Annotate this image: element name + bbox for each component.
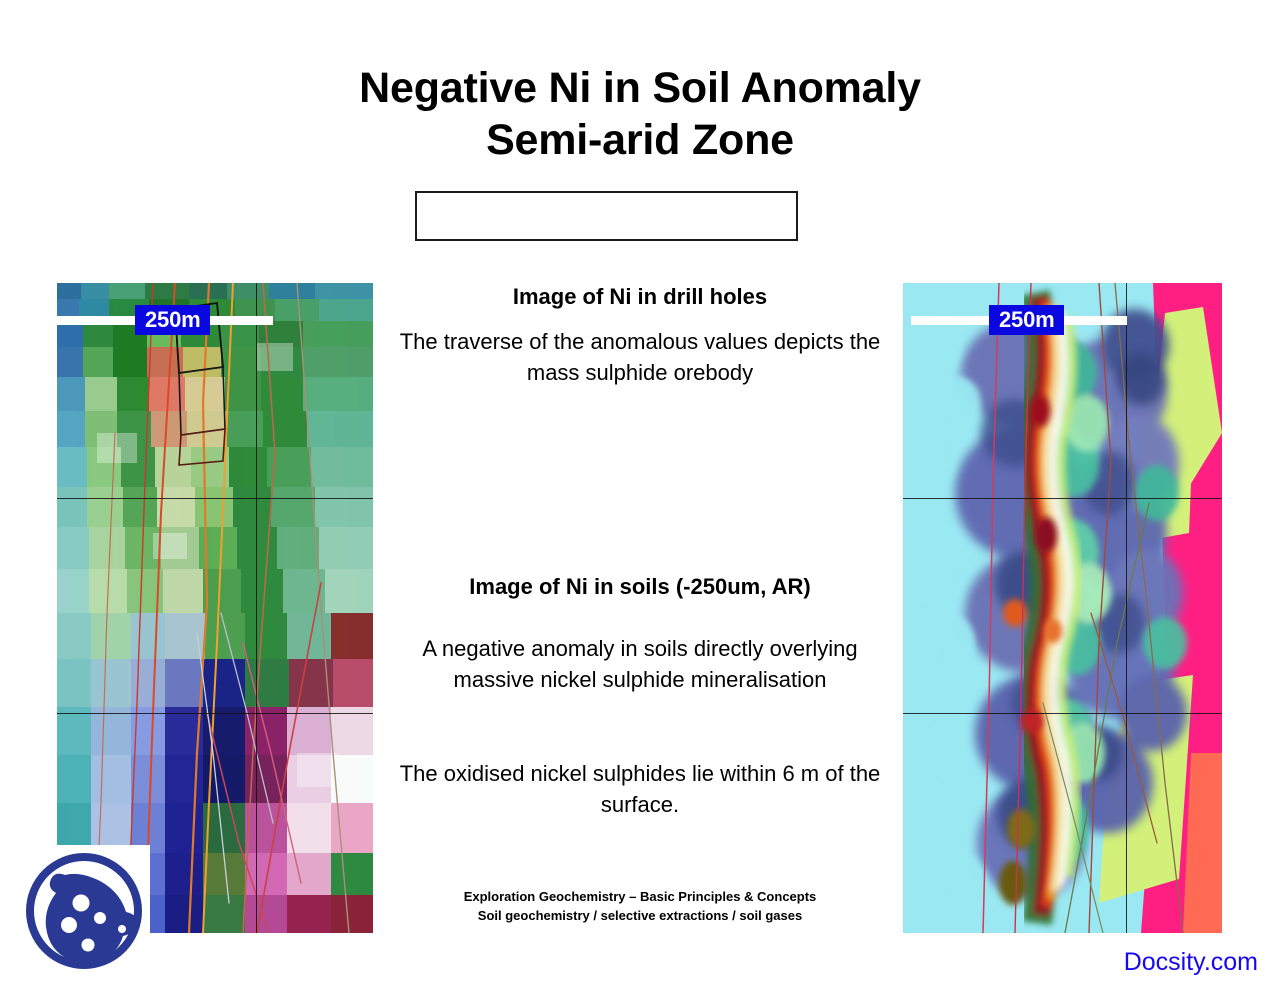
map-panel-soil-geochem[interactable]: 250m xyxy=(903,283,1222,933)
title-line-1: Negative Ni in Soil Anomaly xyxy=(0,62,1280,114)
footer-credit: Exploration Geochemistry – Basic Princip… xyxy=(386,888,894,926)
scale-bar-label-right: 250m xyxy=(989,305,1064,335)
center-text-column: Image of Ni in drill holes The traverse … xyxy=(386,283,894,933)
scale-bar-label-left: 250m xyxy=(135,305,210,335)
map-grid-line-h2 xyxy=(57,713,373,714)
map-grid-line-v1-right xyxy=(1126,283,1127,933)
footer-line-1: Exploration Geochemistry – Basic Princip… xyxy=(386,888,894,907)
map-grid-line-h1-right xyxy=(903,498,1222,499)
empty-text-placeholder-box[interactable] xyxy=(415,191,798,241)
brand-logo xyxy=(18,845,150,977)
map-grid-line-v1 xyxy=(256,283,257,933)
page-title: Negative Ni in Soil Anomaly Semi-arid Zo… xyxy=(0,62,1280,167)
body-oxidised-sulphides: The oxidised nickel sulphides lie within… xyxy=(386,758,894,820)
map-grid-line-h2-right xyxy=(903,713,1222,714)
soil-geochem-raster-image xyxy=(903,283,1222,933)
title-line-2: Semi-arid Zone xyxy=(0,114,1280,166)
footer-line-2: Soil geochemistry / selective extraction… xyxy=(386,907,894,926)
body-ni-soils: A negative anomaly in soils directly ove… xyxy=(386,633,894,695)
body-ni-drill-holes: The traverse of the anomalous values dep… xyxy=(386,326,894,388)
map-grid-line-h1 xyxy=(57,498,373,499)
blob-logo-icon xyxy=(18,845,150,977)
heading-ni-drill-holes: Image of Ni in drill holes xyxy=(386,283,894,312)
drill-hole-raster-image xyxy=(57,283,373,933)
heading-ni-soils: Image of Ni in soils (-250um, AR) xyxy=(386,573,894,602)
docsity-watermark[interactable]: Docsity.com xyxy=(1124,948,1258,977)
map-panel-drill-holes[interactable]: 250m xyxy=(57,283,373,933)
